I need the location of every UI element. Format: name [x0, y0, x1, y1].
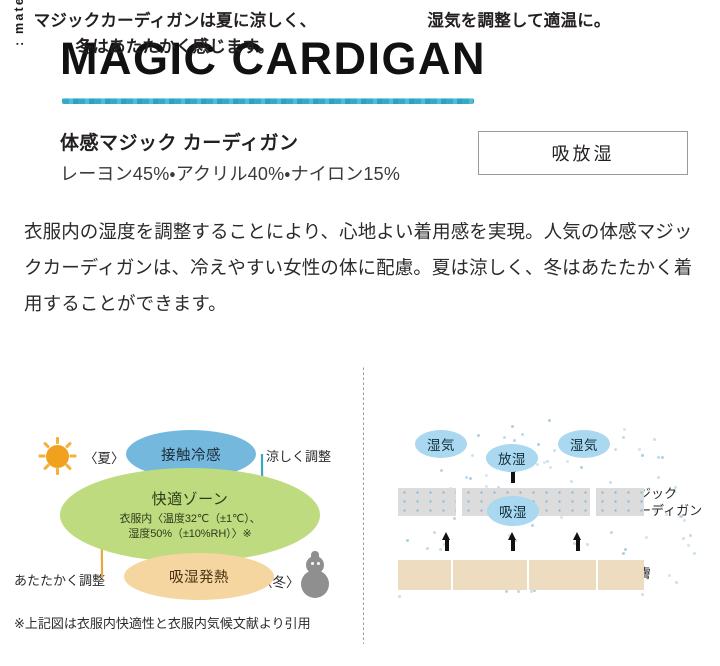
cardigan-layer-segment — [596, 488, 644, 516]
feature-badge: 吸放湿 — [478, 131, 688, 175]
humidity-dot — [687, 544, 690, 547]
humidity-dot — [485, 474, 488, 477]
humidity-dot — [453, 517, 456, 520]
cardigan-layer-segment — [398, 488, 456, 516]
humidity-dot — [465, 476, 468, 479]
summer-label: 〈夏〉 — [84, 447, 125, 467]
left-panel-heading: マジックカーディガンは夏に涼しく、 冬はあたたかく感じます。 — [0, 8, 350, 60]
title-underline-rule — [62, 98, 474, 104]
sun-ray — [65, 463, 72, 470]
humidity-dot — [548, 419, 551, 422]
product-subtitle: 体感マジック カーディガン — [60, 128, 298, 155]
humidity-dot — [645, 536, 648, 539]
humidity-dot — [471, 454, 474, 457]
humidity-dot — [503, 436, 506, 439]
humidity-dot — [682, 537, 685, 540]
humidity-dot — [580, 466, 583, 469]
absorb-arrow-icon — [573, 532, 582, 552]
snowman-body — [301, 570, 329, 598]
humidity-dot — [536, 463, 539, 466]
humidity-dot — [566, 460, 569, 463]
humidity-dot — [668, 574, 671, 577]
humidity-dot — [398, 595, 401, 598]
humidity-dot — [657, 456, 660, 459]
humidity-dot — [586, 543, 589, 546]
zone-comfort-label: 快適ゾーン — [152, 488, 229, 509]
sun-icon — [38, 437, 76, 475]
humidity-dot — [675, 581, 678, 584]
lead-paragraph: 衣服内の湿度を調整することにより、心地よい着用感を実現。人気の体感マジックカーデ… — [24, 214, 696, 322]
humidity-dot — [610, 531, 613, 534]
humidity-dot — [553, 449, 556, 452]
humidity-dot — [505, 590, 508, 593]
humidity-dot — [653, 438, 656, 441]
zone-comfort-detail-line2: 湿度50%（±10%RH）〉※ — [128, 527, 251, 542]
humidity-dot — [693, 552, 696, 555]
sun-ray — [43, 442, 50, 449]
humidity-dot — [469, 477, 472, 480]
snowman-icon — [300, 554, 330, 600]
humidity-dot — [609, 481, 612, 484]
bubble-absorb: 吸湿 — [487, 496, 539, 526]
panel-divider — [363, 366, 364, 644]
skin-layer-segment — [398, 560, 451, 590]
humidity-dot — [549, 466, 552, 469]
arrow-shaft — [511, 538, 515, 551]
snowman-eye — [317, 562, 320, 565]
humidity-dot — [406, 539, 409, 542]
material-composition: レーヨン45%・アクリル40%・ナイロン15% — [60, 160, 400, 186]
humidity-dot — [614, 448, 617, 451]
bubble-moisture-right: 湿気 — [558, 430, 610, 458]
humidity-dot — [440, 469, 443, 472]
zone-moisture-heat-label: 吸湿発熱 — [169, 566, 229, 587]
humidity-dot — [661, 456, 664, 459]
sun-ray — [56, 437, 59, 444]
humidity-dot — [624, 548, 627, 551]
sun-ray — [43, 463, 50, 470]
humidity-dot — [638, 448, 641, 451]
humidity-dot — [477, 434, 480, 437]
humidity-dot — [433, 531, 436, 534]
humidity-dot — [426, 547, 429, 550]
humidity-dot — [546, 460, 549, 463]
sun-ray — [56, 468, 59, 475]
arrow-shaft — [576, 538, 580, 551]
bubble-moisture-left: 湿気 — [415, 430, 467, 458]
humidity-dot — [689, 534, 692, 537]
left-panel-heading-line2: 冬はあたたかく感じます。 — [0, 34, 350, 60]
zone-moisture-heat: 吸湿発熱 — [124, 553, 274, 600]
snowman-eye — [311, 562, 314, 565]
zone-comfort: 快適ゾーン 衣服内〈温度32℃（±1℃）、 湿度50%（±10%RH）〉※ — [60, 468, 320, 562]
humidity-dot — [513, 439, 516, 442]
zone-cool-touch-label: 接触冷感 — [161, 444, 221, 465]
sun-ray — [39, 455, 46, 458]
humidity-dot — [521, 433, 524, 436]
absorb-arrow-icon — [442, 532, 451, 552]
humidity-dot — [622, 436, 625, 439]
skin-layer-segment — [598, 560, 644, 590]
humidity-dot — [570, 480, 573, 483]
humidity-dot — [531, 524, 534, 527]
sun-ray — [70, 455, 77, 458]
humidity-dot — [622, 552, 625, 555]
humidity-dot — [623, 428, 626, 431]
left-panel-footnote: ※上記図は衣服内快適性と衣服内気候文献より引用 — [14, 613, 311, 632]
humidity-dot — [641, 454, 644, 457]
left-panel-heading-line1: マジックカーディガンは夏に涼しく、 — [0, 8, 350, 34]
skin-layer-segment — [529, 560, 596, 590]
humidity-dot — [560, 516, 563, 519]
zone-comfort-detail-line1: 衣服内〈温度32℃（±1℃）、 — [119, 512, 260, 527]
sun-ray — [65, 442, 72, 449]
right-panel-heading: 湿気を調整して適温に。 — [374, 8, 664, 34]
humidity-dot — [657, 476, 660, 479]
skin-layer-segment — [453, 560, 527, 590]
humidity-dot — [683, 519, 686, 522]
humidity-dot — [537, 443, 540, 446]
humidity-dot — [511, 425, 514, 428]
absorb-arrow-icon — [508, 532, 517, 552]
humidity-dot — [641, 593, 644, 596]
arrow-shaft — [445, 538, 449, 551]
bubble-release: 放湿 — [486, 444, 538, 472]
